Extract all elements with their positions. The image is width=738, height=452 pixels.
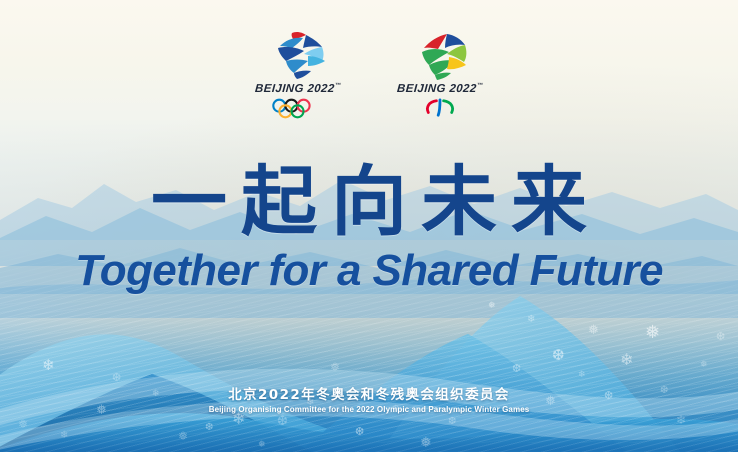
organiser-english: Beijing Organising Committee for the 202… — [0, 405, 738, 414]
beijing-2022-winter-paralympic-emblem-icon — [404, 28, 476, 80]
slogan-english: Together for a Shared Future — [0, 249, 738, 293]
slogan-chinese: 一起向未来 — [0, 164, 738, 240]
emblem-row: BEIJING 2022™ — [0, 28, 738, 119]
paralympic-agitos-icon — [422, 97, 458, 119]
beijing-2022-slogan-poster: ❄❅❆❄❅❆❄❅❆❄❅❆❄❅❆❄❅❆❄❅❆❄❅❆❄❅❆❄❅❆❄❅ — [0, 0, 738, 452]
organiser-block: 北京2022年冬奥会和冬残奥会组织委员会 Beijing Organising … — [0, 383, 738, 414]
olympic-emblem-block: BEIJING 2022™ — [246, 28, 350, 119]
paralympic-emblem-block: BEIJING 2022™ — [388, 28, 492, 119]
olympic-rings-icon — [269, 97, 327, 119]
paralympic-wordmark: BEIJING 2022™ — [397, 83, 484, 95]
organiser-chinese: 北京2022年冬奥会和冬残奥会组织委员会 — [0, 383, 738, 403]
olympic-wordmark: BEIJING 2022™ — [255, 83, 342, 95]
beijing-2022-winter-olympic-emblem-icon — [262, 28, 334, 80]
